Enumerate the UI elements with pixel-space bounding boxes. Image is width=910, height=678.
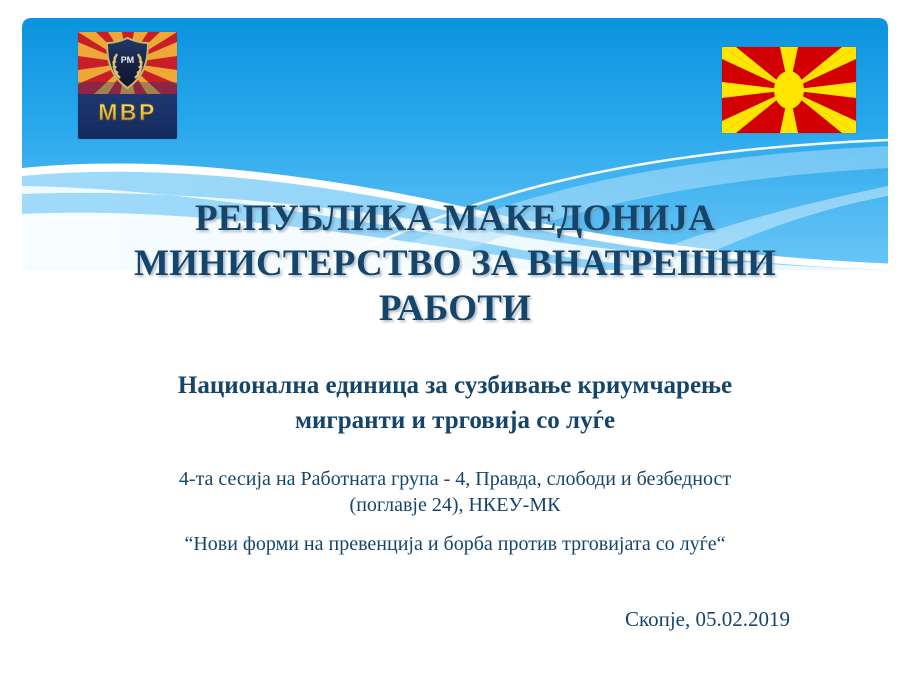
presentation-slide: РМ МВР xyxy=(0,0,910,678)
title-line-2: МИНИСТЕРСТВО ЗА ВНАТРЕШНИ xyxy=(45,241,865,286)
slide-text-content: РЕПУБЛИКА МАКЕДОНИЈА МИНИСТЕРСТВО ЗА ВНА… xyxy=(0,0,910,678)
subtitle-line-1: Национална единица за сузбивање криумчар… xyxy=(60,368,850,403)
theme-line-1: “Нови форми на превенција и борба против… xyxy=(50,531,860,557)
title-line-3: РАБОТИ xyxy=(45,286,865,331)
session-line-2: (поглавје 24), НКЕУ-МК xyxy=(60,492,850,518)
place-and-date: Скопје, 05.02.2019 xyxy=(60,607,850,632)
page-title: РЕПУБЛИКА МАКЕДОНИЈА МИНИСТЕРСТВО ЗА ВНА… xyxy=(45,196,865,331)
session-info: 4-та сесија на Работната група - 4, Прав… xyxy=(60,466,850,518)
session-line-1: 4-та сесија на Работната група - 4, Прав… xyxy=(60,466,850,492)
subtitle: Национална единица за сузбивање криумчар… xyxy=(60,368,850,438)
presentation-theme: “Нови форми на превенција и борба против… xyxy=(50,531,860,557)
subtitle-line-2: мигранти и трговија со луѓе xyxy=(60,403,850,438)
title-line-1: РЕПУБЛИКА МАКЕДОНИЈА xyxy=(45,196,865,241)
